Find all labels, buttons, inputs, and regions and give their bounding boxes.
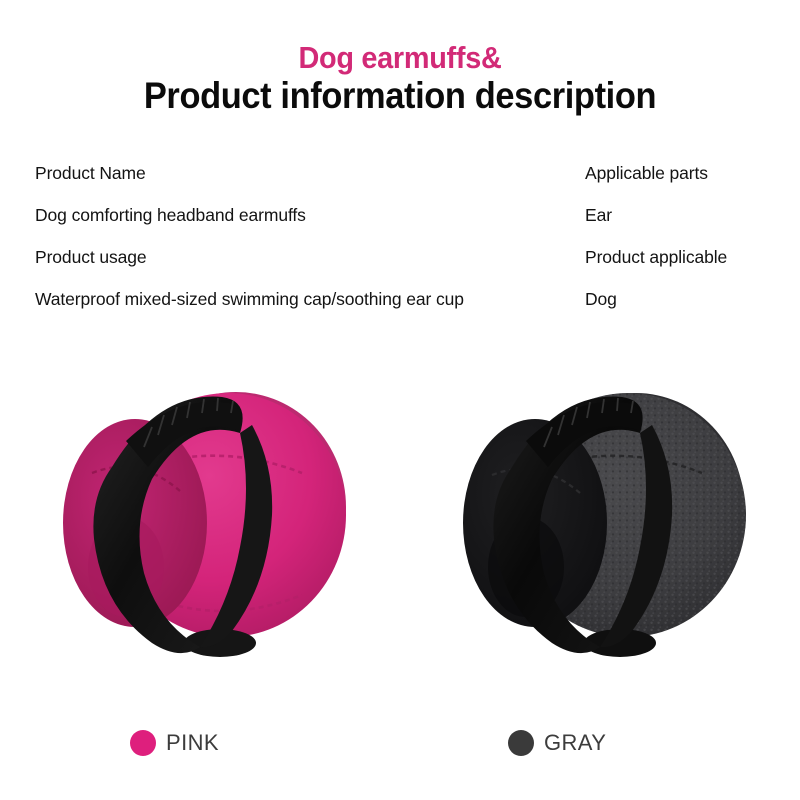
- color-swatch-gray[interactable]: GRAY: [508, 726, 606, 760]
- color-dot-icon: [130, 730, 156, 756]
- page-title-line-1: Dog earmuffs&: [28, 42, 772, 75]
- spec-right-cell: Product applicable: [585, 247, 765, 268]
- product-spec-table: Product Name Applicable parts Dog comfor…: [35, 163, 765, 331]
- spec-right-cell: Applicable parts: [585, 163, 765, 184]
- table-row: Product usage Product applicable: [35, 247, 765, 289]
- spec-right-cell: Dog: [585, 289, 765, 310]
- page-title-line-2: Product information description: [28, 75, 772, 116]
- product-image-pink: [40, 355, 380, 685]
- color-swatch-pink[interactable]: PINK: [130, 726, 219, 760]
- product-image-gray: [440, 355, 780, 685]
- product-image-gallery: [0, 355, 800, 685]
- spec-right-cell: Ear: [585, 205, 765, 226]
- spec-left-cell: Dog comforting headband earmuffs: [35, 205, 585, 226]
- spec-left-cell: Product usage: [35, 247, 585, 268]
- table-row: Waterproof mixed-sized swimming cap/soot…: [35, 289, 765, 331]
- gray-earmuff-illustration: [440, 355, 780, 685]
- table-row: Product Name Applicable parts: [35, 163, 765, 205]
- page-title: Dog earmuffs& Product information descri…: [0, 42, 800, 116]
- table-row: Dog comforting headband earmuffs Ear: [35, 205, 765, 247]
- pink-earmuff-illustration: [40, 355, 380, 685]
- spec-left-cell: Product Name: [35, 163, 585, 184]
- color-dot-icon: [508, 730, 534, 756]
- color-swatch-label: PINK: [166, 730, 219, 756]
- color-swatch-label: GRAY: [544, 730, 606, 756]
- spec-left-cell: Waterproof mixed-sized swimming cap/soot…: [35, 289, 585, 310]
